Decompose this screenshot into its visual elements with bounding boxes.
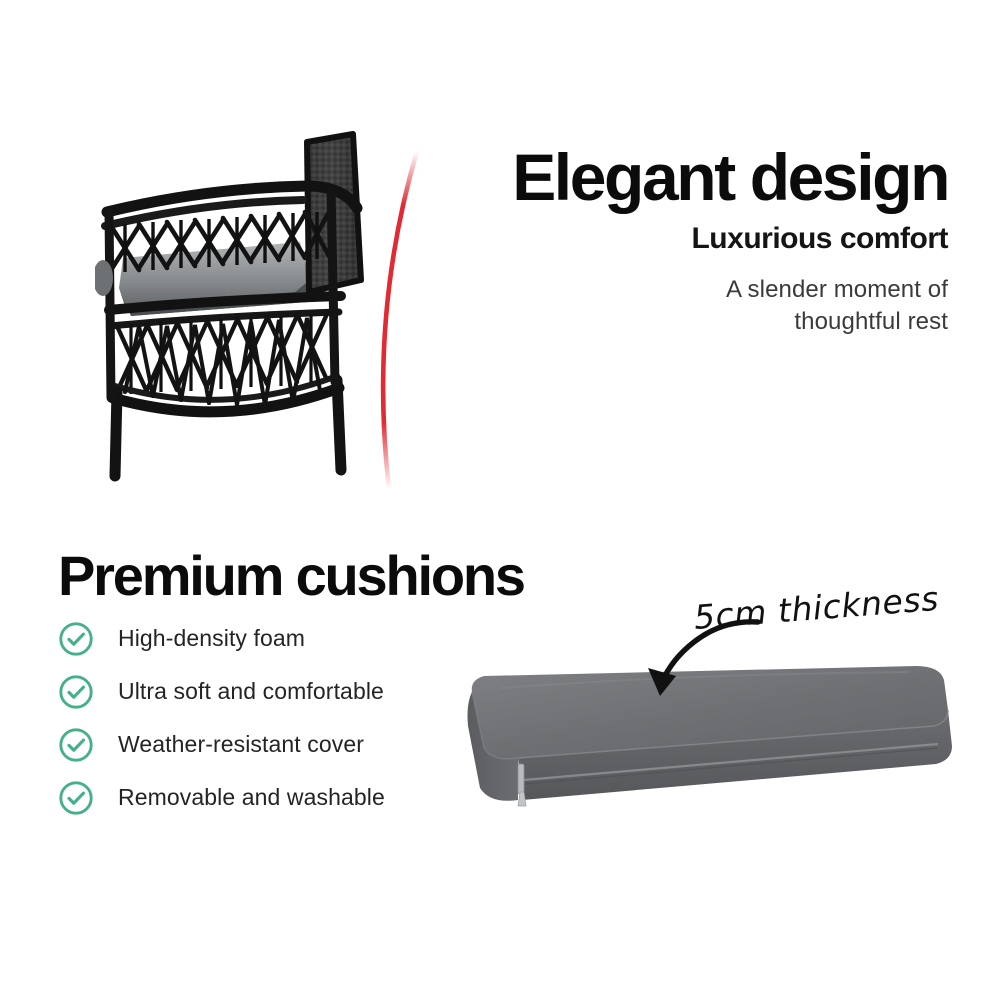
check-circle-icon xyxy=(58,621,94,657)
section-title-premium-cushions: Premium cushions xyxy=(58,548,524,604)
headline-elegant-design: Elegant design xyxy=(468,146,948,209)
feature-list: High-density foam Ultra soft and comfort… xyxy=(58,612,458,824)
callout-5cm-thickness: 5cm thickness xyxy=(692,579,940,637)
red-accent-curve xyxy=(355,145,445,495)
feature-label: Weather-resistant cover xyxy=(118,731,364,758)
feature-label: Removable and washable xyxy=(118,784,385,811)
infographic-canvas: Elegant design Luxurious comfort A slend… xyxy=(0,0,1000,1000)
check-circle-icon xyxy=(58,674,94,710)
top-copy-block: Elegant design Luxurious comfort A slend… xyxy=(468,146,948,337)
check-circle-icon xyxy=(58,727,94,763)
tagline-block: A slender moment of thoughtful rest xyxy=(468,274,948,337)
list-item: Removable and washable xyxy=(58,771,458,824)
feature-label: High-density foam xyxy=(118,625,305,652)
list-item: Weather-resistant cover xyxy=(58,718,458,771)
list-item: Ultra soft and comfortable xyxy=(58,665,458,718)
list-item: High-density foam xyxy=(58,612,458,665)
subhead-luxurious-comfort: Luxurious comfort xyxy=(468,220,948,258)
check-circle-icon xyxy=(58,780,94,816)
tagline-line-1: A slender moment of xyxy=(468,274,948,306)
tagline-line-2: thoughtful rest xyxy=(468,306,948,338)
feature-label: Ultra soft and comfortable xyxy=(118,678,384,705)
